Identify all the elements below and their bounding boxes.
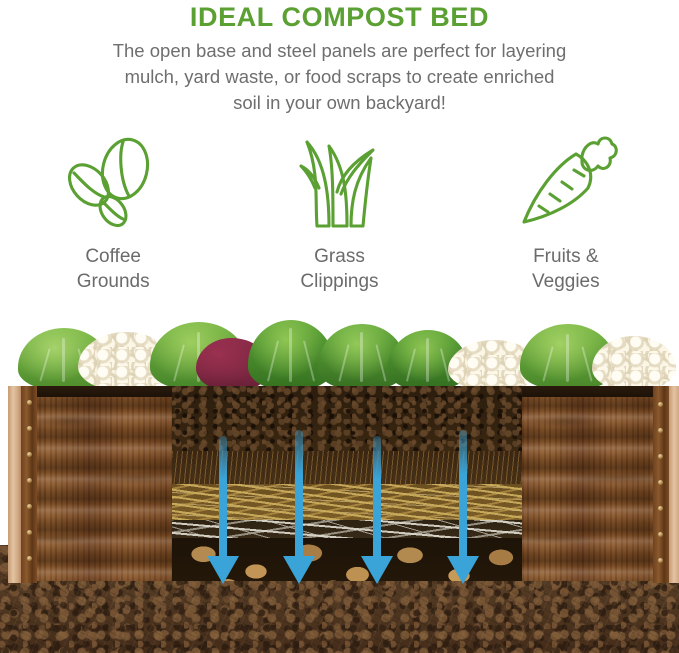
bolt-icon [658,532,663,537]
leaf-vein [267,340,279,381]
leaf-vein [62,338,65,382]
subtitle-line-1: The open base and steel panels are perfe… [50,38,630,64]
feature-label-line-2: Clippings [300,269,378,294]
bolt-icon [658,558,663,563]
page-title: IDEAL COMPOST BED [0,0,679,32]
feature-label-line-1: Fruits & [532,244,600,269]
leaf-vein [375,344,386,381]
bed-panel-left [17,386,192,581]
leaf-vein [406,348,416,381]
subtitle-line-2: mulch, yard waste, or food scraps to cre… [50,64,630,90]
leaf-vein [542,346,553,381]
coffee-beans-icon [61,134,165,234]
grass-blades-icon [293,134,385,234]
leaf-vein [360,332,363,382]
feature-label-grass-clippings: Grass Clippings [300,244,378,294]
bolt-icon [27,478,32,483]
leaf-vein [566,334,569,382]
bolt-icon [658,506,663,511]
leaf-vein [173,344,185,381]
feature-grass-clippings: Grass Clippings [226,134,452,294]
arrow-shaft [219,436,227,558]
feature-label-fruits-veggies: Fruits & Veggies [532,244,600,294]
drainage-arrow [447,430,479,586]
feature-coffee-grounds: Coffee Grounds [0,134,226,294]
corrugated-steel-texture [17,386,192,581]
feature-label-line-1: Coffee [77,244,150,269]
leaf-vein [39,348,50,381]
feature-label-coffee-grounds: Coffee Grounds [77,244,150,294]
post-inner-face [21,386,37,583]
page-subtitle: The open base and steel panels are perfe… [50,38,630,116]
arrow-head [207,556,239,584]
bolt-icon [658,428,663,433]
bed-panel-right [522,386,664,581]
corrugated-steel-texture [522,386,664,581]
drainage-arrow [361,436,393,586]
arrow-shaft [295,430,303,558]
corner-post-left [8,386,38,583]
leaf-vein [303,340,315,381]
bolt-icon [27,400,32,405]
corner-post-right [653,386,679,583]
carrot-icon [514,134,618,234]
bolt-icon [658,480,663,485]
bed-top-rim [17,386,192,397]
feature-label-line-2: Grounds [77,269,150,294]
post-outer-face [669,386,679,583]
feature-fruits-veggies: Fruits & Veggies [453,134,679,294]
bolt-icon [658,402,663,407]
feature-label-line-1: Grass [300,244,378,269]
subtitle-line-3: soil in your own backyard! [50,90,630,116]
post-outer-face [8,386,21,583]
bolt-icon [27,452,32,457]
infographic-page: IDEAL COMPOST BED The open base and stee… [0,0,679,653]
bolt-icon [658,454,663,459]
bed-top-rim [522,386,664,397]
leaf-vein [426,338,429,382]
bolt-icon [27,504,32,509]
header: IDEAL COMPOST BED The open base and stee… [0,0,679,116]
leaf-vein [289,328,292,382]
arrow-head [447,556,479,584]
bolt-icon [27,426,32,431]
leaf-vein [338,344,349,381]
feature-icon-row: Coffee Grounds Grass Clippings [0,134,679,294]
leaf-vein [581,346,592,381]
plant-cauliflower [592,336,676,390]
arrow-head [283,556,315,584]
arrow-shaft [373,436,381,558]
arrow-head [361,556,393,584]
plant-row [0,318,679,390]
product-photo [0,318,679,653]
arrow-shaft [459,430,467,558]
bolt-icon [27,530,32,535]
drainage-arrow [283,430,315,586]
feature-label-line-2: Veggies [532,269,600,294]
bolt-icon [27,556,32,561]
drainage-arrow [207,436,239,586]
